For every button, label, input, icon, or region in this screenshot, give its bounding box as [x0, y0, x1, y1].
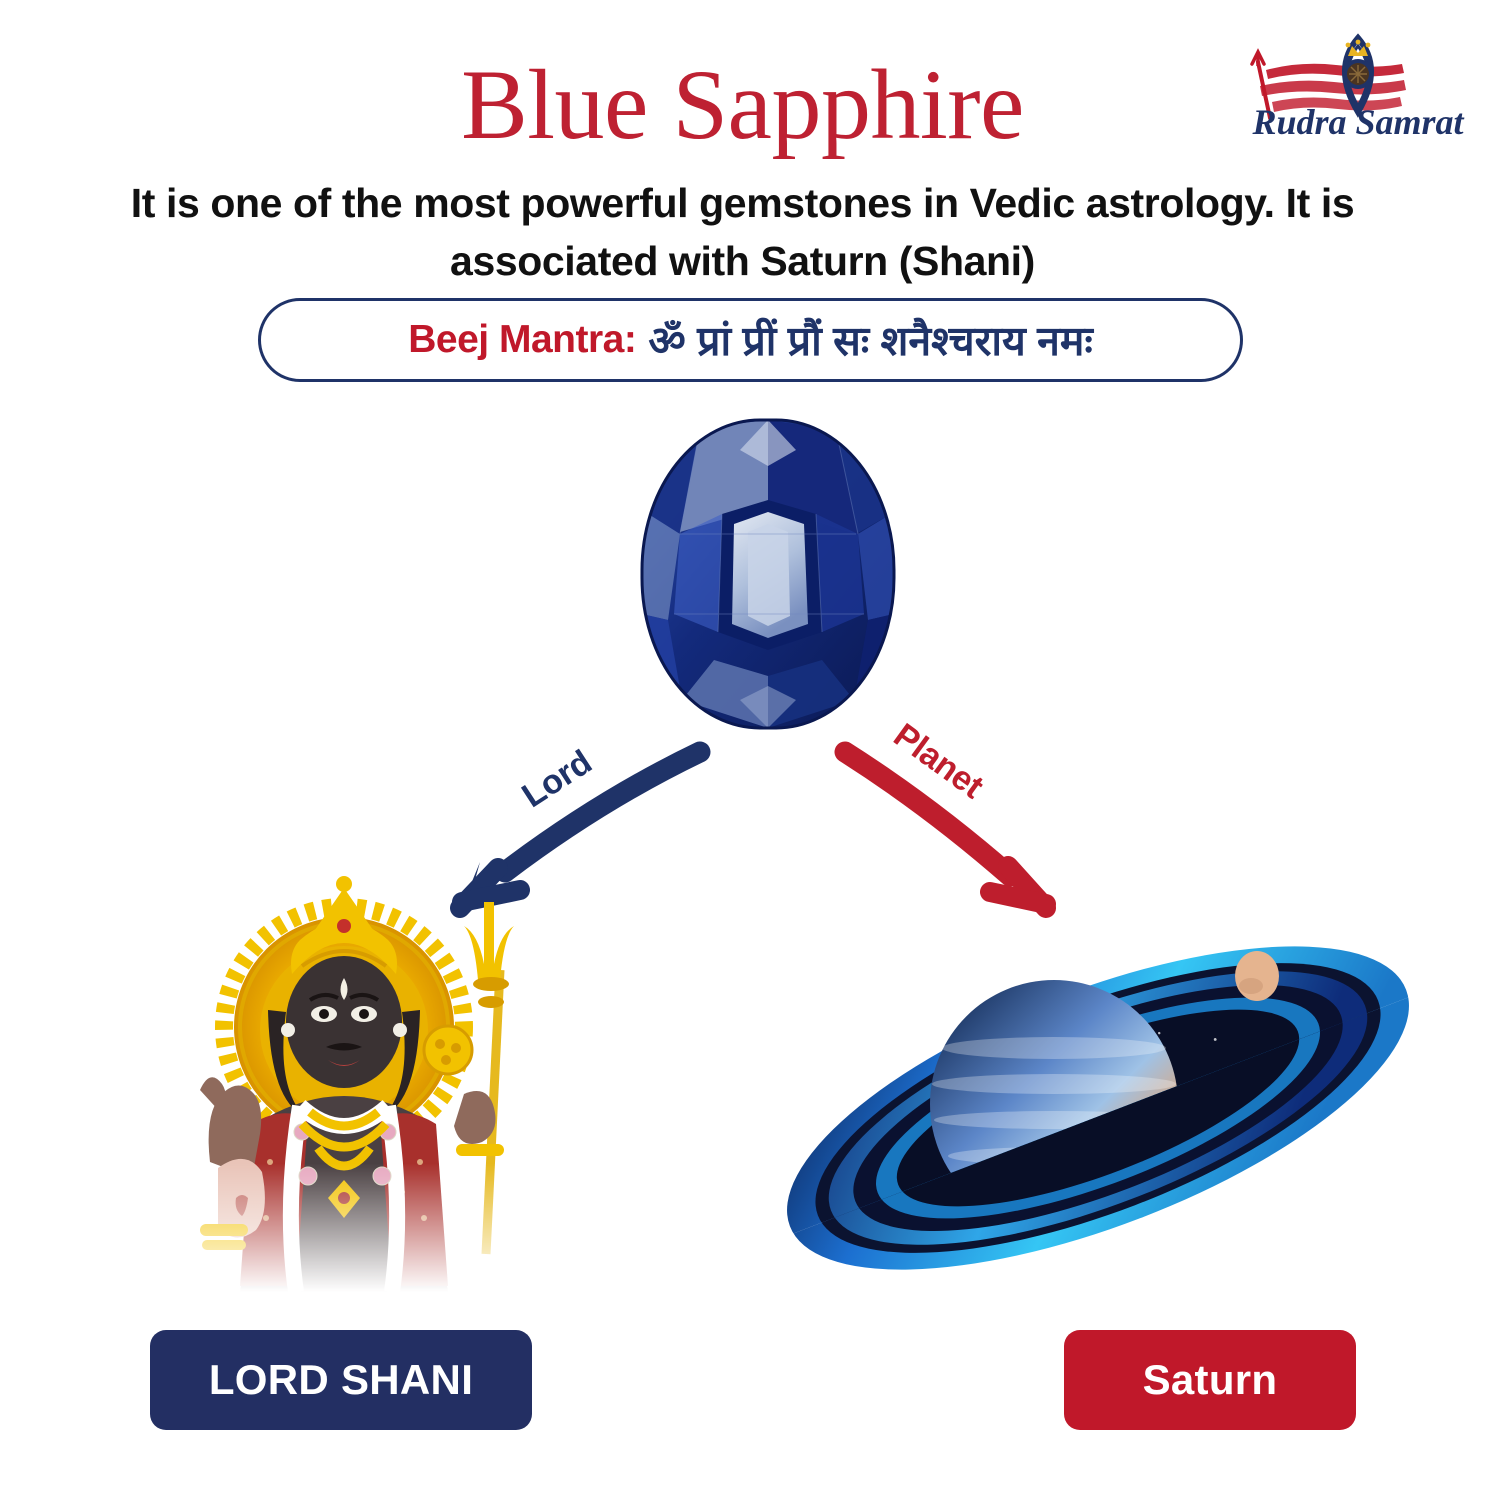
arrow-label-lord: Lord — [515, 743, 599, 816]
page-title: Blue Sapphire — [0, 52, 1485, 157]
blue-sapphire-gem — [636, 414, 900, 734]
badge-saturn[interactable]: Saturn — [1064, 1330, 1356, 1430]
lord-shani-image — [148, 862, 568, 1292]
arrow-label-planet: Planet — [886, 716, 990, 806]
beej-mantra-text: ॐ प्रां प्रीं प्रौं सः शनैश्चराय नमः — [648, 312, 1092, 368]
beej-mantra-label: Beej Mantra: — [408, 318, 636, 362]
page-subtitle: It is one of the most powerful gemstones… — [70, 174, 1415, 290]
badge-lord-shani[interactable]: LORD SHANI — [150, 1330, 532, 1430]
saturn-image — [762, 908, 1434, 1308]
infographic-page: Rudra Samrat Blue Sapphire It is one of … — [0, 0, 1485, 1485]
beej-mantra-box: Beej Mantra: ॐ प्रां प्रीं प्रौं सः शनैश… — [258, 298, 1243, 382]
saturn-moon — [1235, 951, 1279, 1001]
badge-saturn-label: Saturn — [1143, 1356, 1278, 1404]
badge-lord-shani-label: LORD SHANI — [209, 1356, 473, 1404]
